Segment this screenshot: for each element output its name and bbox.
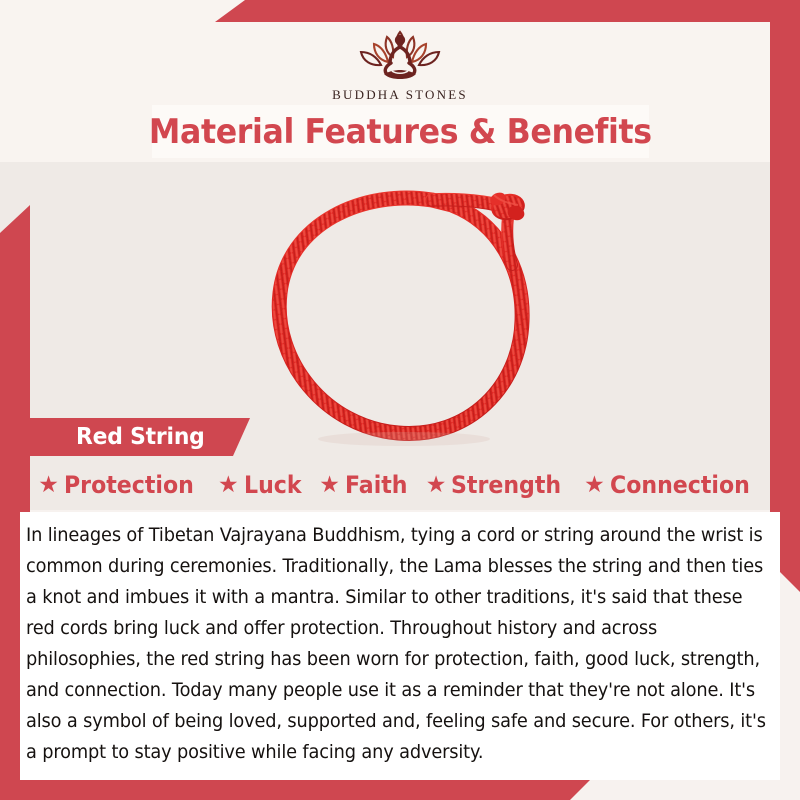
star-icon: ★: [584, 474, 605, 497]
feature-label: Connection: [610, 471, 750, 499]
infographic-page: BUDDHA STONES Material Features & Benefi…: [0, 0, 800, 800]
title-banner: Material Features & Benefits: [152, 105, 649, 158]
star-icon: ★: [38, 474, 59, 497]
lotus-meditation-icon: [330, 18, 470, 84]
brand-logo: BUDDHA STONES: [0, 18, 800, 103]
section-label: Red String: [76, 424, 205, 450]
feature-item-protection: ★ Protection: [38, 471, 205, 499]
decor-bar-right: [770, 22, 800, 592]
product-image: [236, 165, 566, 455]
brand-name: BUDDHA STONES: [332, 87, 468, 103]
section-ribbon: Red String: [28, 418, 250, 456]
red-braided-string-bracelet-icon: [236, 165, 566, 455]
feature-label: Strength: [451, 471, 561, 499]
feature-item-connection: ★ Connection: [584, 471, 762, 499]
feature-item-strength: ★ Strength: [426, 471, 571, 499]
feature-item-faith: ★ Faith: [319, 471, 413, 499]
feature-label: Faith: [345, 471, 408, 499]
star-icon: ★: [218, 474, 239, 497]
feature-label: Luck: [244, 471, 302, 499]
star-icon: ★: [426, 474, 447, 497]
description-panel: In lineages of Tibetan Vajrayana Buddhis…: [20, 512, 780, 780]
page-title: Material Features & Benefits: [149, 112, 652, 152]
feature-label: Protection: [64, 471, 194, 499]
description-text: In lineages of Tibetan Vajrayana Buddhis…: [26, 520, 772, 768]
feature-list: ★ Protection ★ Luck ★ Faith ★ Strength ★…: [0, 466, 800, 504]
feature-item-luck: ★ Luck: [218, 471, 306, 499]
star-icon: ★: [319, 474, 340, 497]
